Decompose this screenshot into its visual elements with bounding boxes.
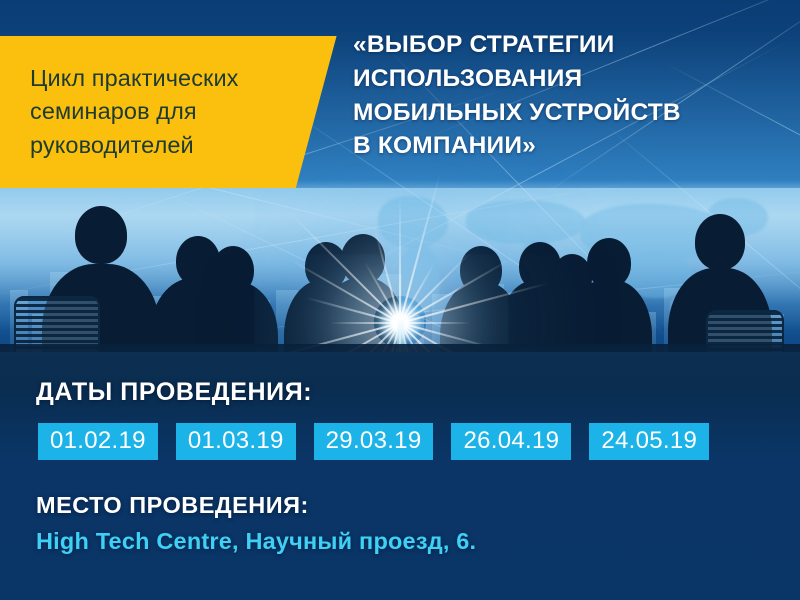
series-banner-line-2: семинаров для (30, 95, 302, 128)
series-banner-text: Цикл практических семинаров для руководи… (30, 62, 302, 162)
place-label: МЕСТО ПРОВЕДЕНИЯ: (36, 492, 309, 519)
date-chip[interactable]: 01.03.19 (176, 423, 296, 460)
date-chip[interactable]: 29.03.19 (314, 423, 434, 460)
date-chip[interactable]: 24.05.19 (589, 423, 709, 460)
seminar-promo-banner: Цикл практических семинаров для руководи… (0, 0, 800, 600)
date-chip[interactable]: 01.02.19 (38, 423, 158, 460)
silhouette-head (695, 214, 745, 270)
silhouette-head (75, 206, 127, 264)
place-value: High Tech Centre, Научный проезд, 6. (36, 528, 476, 555)
series-banner-line-1: Цикл практических (30, 62, 302, 95)
headline-line-3: МОБИЛЬНЫХ УСТРОЙСТВ (353, 96, 793, 130)
headline-line-2: ИСПОЛЬЗОВАНИЯ (353, 62, 793, 96)
dates-label: ДАТЫ ПРОВЕДЕНИЯ: (36, 378, 312, 407)
dates-chip-list: 01.02.19 01.03.19 29.03.19 26.04.19 24.0… (38, 423, 709, 460)
page-title: «ВЫБОР СТРАТЕГИИ ИСПОЛЬЗОВАНИЯ МОБИЛЬНЫХ… (353, 28, 793, 163)
date-chip[interactable]: 26.04.19 (451, 423, 571, 460)
series-banner-line-3: руководителей (30, 129, 302, 162)
series-banner: Цикл практических семинаров для руководи… (0, 36, 340, 188)
headline-line-1: «ВЫБОР СТРАТЕГИИ (353, 28, 793, 62)
headline-line-4: В КОМПАНИИ» (353, 129, 793, 163)
